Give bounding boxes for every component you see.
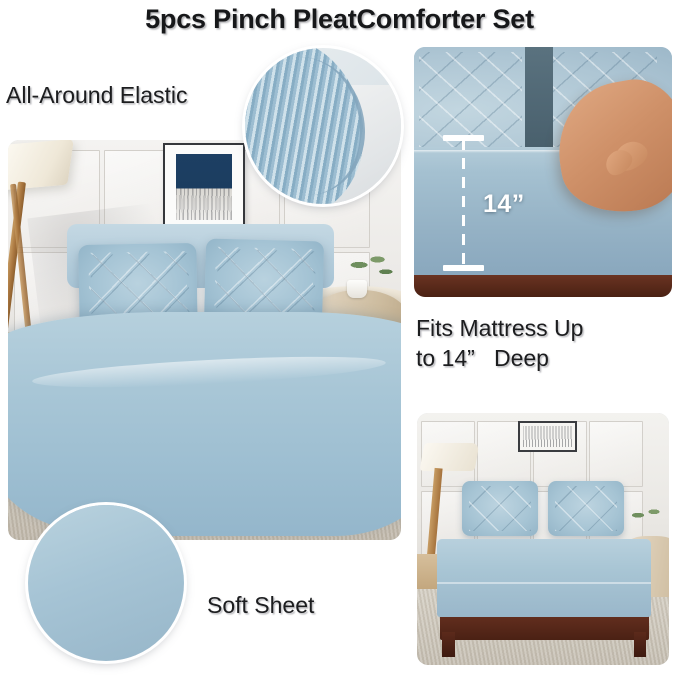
pinch-pleat-pillow <box>462 481 538 536</box>
soft-fabric-closeup <box>28 505 184 661</box>
pillow-gap-shadow <box>525 47 553 147</box>
cup-on-nightstand <box>347 280 367 298</box>
fitted-sheet <box>437 539 651 617</box>
floor-lamp-shade <box>420 443 480 471</box>
bed-frame-leg <box>442 632 455 657</box>
bed-frame-leg <box>634 632 647 657</box>
wall-panel <box>589 421 643 487</box>
fitted-sheet-on-bed-photo <box>417 413 669 665</box>
pinch-pleat-texture <box>419 52 522 147</box>
fits-mattress-label: Fits Mattress Up to 14” Deep <box>416 313 583 373</box>
pinch-pleat-pillow <box>548 481 624 536</box>
all-around-elastic-label: All-Around Elastic <box>6 82 188 109</box>
measure-dashed-line <box>462 139 465 267</box>
fabric-folds <box>28 505 184 661</box>
artwork-image <box>176 154 232 220</box>
elastic-corner-closeup <box>245 48 401 204</box>
framed-artwork <box>518 421 577 453</box>
mattress-depth-photo: 14” <box>414 47 672 297</box>
measure-cap-bottom <box>443 265 484 271</box>
artwork-texture <box>176 188 232 220</box>
fitted-sheet-seam <box>437 582 651 584</box>
infographic-canvas: 5pcs Pinch PleatComforter Set <box>0 0 679 678</box>
soft-sheet-label: Soft Sheet <box>207 592 314 619</box>
potted-plant <box>626 506 666 529</box>
bed-base-wood <box>414 275 672 298</box>
page-title: 5pcs Pinch PleatComforter Set <box>0 4 679 35</box>
sheet-folds <box>8 312 401 536</box>
elastic-hem <box>264 57 366 194</box>
measure-value-label: 14” <box>483 190 525 219</box>
framed-artwork <box>163 143 245 235</box>
